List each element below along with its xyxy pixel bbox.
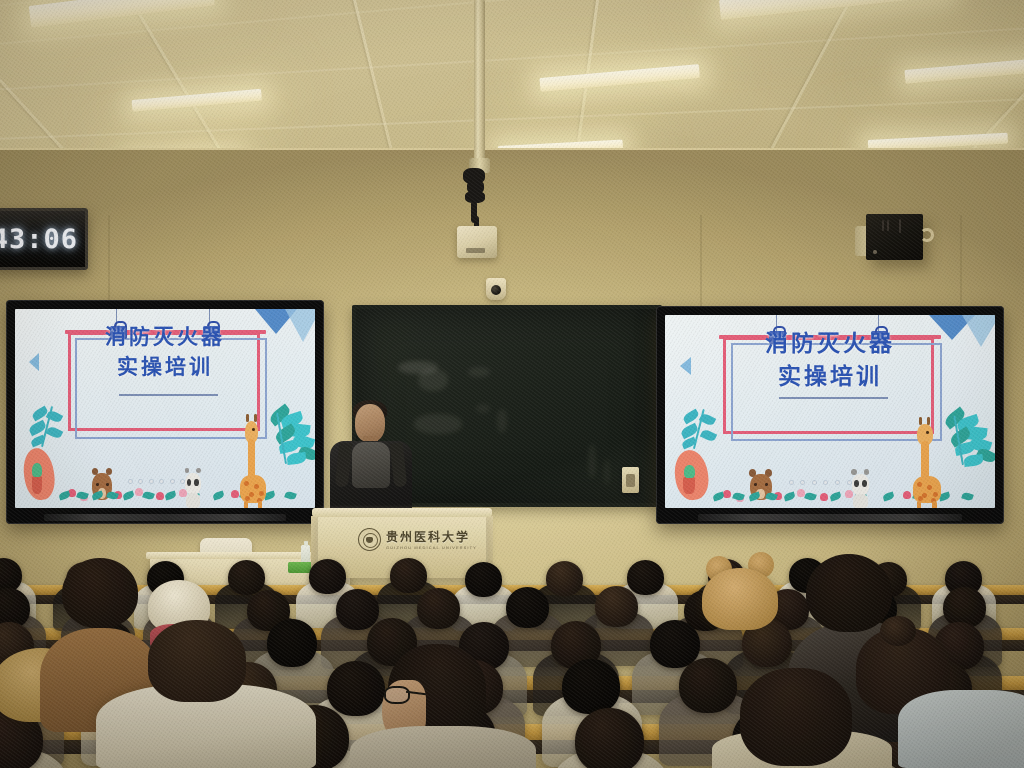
wall-light-switch[interactable]	[622, 467, 639, 493]
left-display-stand	[44, 514, 286, 521]
slide-raccoon-ear-l	[185, 468, 190, 473]
audience-head	[465, 562, 502, 597]
ceiling-light-1	[719, 0, 950, 20]
slide-grass-0	[712, 491, 725, 501]
audience-head	[506, 587, 549, 628]
slide-giraffe-spot-1	[254, 484, 259, 489]
wall-speaker	[866, 214, 923, 260]
clock-time-display: 7:43:06	[0, 224, 78, 255]
slide-title-right-line2: 实操培训	[665, 362, 995, 394]
ceiling-dome-camera	[486, 278, 506, 300]
slide-dot-0	[128, 479, 133, 484]
emblem-inner-mark	[366, 537, 373, 543]
slide-giraffe-leg-r	[932, 501, 937, 508]
slide-leaf-right-7	[963, 454, 983, 467]
slide-pot	[683, 477, 695, 494]
slide-grass-6	[164, 491, 177, 501]
slide-grass-6	[829, 491, 842, 501]
university-name-cn: 贵州医科大学	[386, 528, 470, 545]
audience-head-bottom-right	[740, 668, 852, 766]
audience-hair-bun	[880, 616, 916, 646]
slide-dot-2	[812, 480, 817, 485]
left-display[interactable]: 消防灭火器 实操培训	[6, 300, 324, 524]
slide-grass-1	[732, 491, 745, 501]
audience-head	[309, 559, 346, 594]
slide-dot-0	[789, 480, 794, 485]
slide-title-underline	[119, 394, 218, 396]
slide-leaf-left-3	[699, 428, 716, 443]
audience-head	[228, 560, 265, 595]
slide-giraffe-horn-r	[254, 414, 257, 422]
slide-raccoon-mask-r	[194, 479, 199, 486]
slide-title-left-line2: 实操培训	[15, 353, 315, 382]
slide-flower-6	[903, 491, 911, 499]
slide-pot	[32, 476, 43, 494]
audience-head-dark-left	[62, 558, 138, 628]
audience-head	[336, 589, 379, 630]
audience-head	[679, 658, 737, 713]
slide-title-left-line1: 消防灭火器	[15, 323, 315, 352]
slide-raccoon-ear-r	[864, 469, 869, 474]
audience-long-hair-center	[148, 620, 246, 702]
slide-flower-0	[723, 490, 731, 498]
slide-dot-5	[847, 480, 852, 485]
slide-giraffe-leg-r	[258, 501, 262, 508]
wall-seam-left	[108, 215, 110, 311]
slide-raccoon-body	[853, 494, 868, 508]
slide-leaf-left-0	[682, 408, 700, 424]
audience-head	[417, 588, 460, 629]
slide-dot-1	[138, 479, 143, 484]
audience-head	[562, 659, 620, 714]
audience-head	[546, 561, 583, 596]
slide-leaf-left-3	[46, 426, 63, 441]
slide-raccoon-body	[186, 493, 200, 508]
slide-giraffe-body	[240, 475, 266, 503]
audience-head-right-top	[806, 554, 892, 632]
slide-dot-3	[159, 479, 164, 484]
slide-leaf-left-1	[698, 412, 715, 427]
glasses-icon[interactable]	[384, 686, 410, 704]
slide-bear-eye-r	[106, 483, 109, 486]
right-display-stand	[698, 514, 962, 521]
slide-canvas-left: 消防灭火器 实操培训	[15, 309, 315, 508]
slide-dot-2	[149, 479, 154, 484]
lecture-hall-photo: 7:43:06 消防灭火器 实操培训 消防灭火器 实操培训	[0, 0, 1024, 768]
ceiling-light-3	[539, 64, 700, 92]
slide-grass-11	[961, 491, 974, 501]
slide-flower-4	[156, 492, 164, 500]
projector-cable-bundle	[455, 168, 499, 230]
wall-seam-right	[700, 215, 702, 315]
slide-dot-3	[823, 480, 828, 485]
slide-giraffe-neck	[921, 441, 930, 480]
slide-giraffe-body	[913, 476, 941, 503]
digital-wall-clock: 7:43:06	[0, 208, 88, 270]
slide-bear-eye-l	[96, 483, 99, 486]
speaker-mount-arm	[920, 228, 934, 242]
projector-mount-pole	[474, 0, 485, 175]
slide-dot-4	[835, 480, 840, 485]
right-display[interactable]: 消防灭火器 实操培训	[656, 306, 1004, 524]
slide-giraffe-leg-l	[917, 501, 922, 508]
slide-canvas-right: 消防灭火器 实操培训	[665, 315, 995, 508]
slide-flower-5	[845, 490, 853, 498]
slide-grass-11	[284, 491, 297, 501]
slide-giraffe-spot-0	[244, 481, 249, 486]
slide-leaf-right-7	[286, 452, 306, 465]
slide-giraffe-spot-0	[917, 482, 922, 487]
slide-leaf-left-0	[30, 405, 48, 421]
presenter-hoodie	[352, 442, 390, 488]
slide-raccoon-mask-l	[854, 480, 859, 487]
slide-pot-plant	[32, 463, 42, 477]
audience-grey-hoodie	[350, 726, 536, 768]
slide-grass-4	[122, 491, 135, 501]
audience-head	[575, 708, 644, 768]
lectern-top-edge	[312, 508, 492, 517]
slide-pot-plant	[684, 465, 695, 479]
slide-giraffe-leg-l	[244, 501, 248, 508]
audience-head	[595, 586, 638, 627]
ceiling-cross-line-2	[0, 23, 1024, 94]
audience-blue-quilted	[898, 690, 1024, 768]
audience-head	[390, 558, 427, 593]
audience-head	[627, 560, 664, 595]
slide-dot-4	[170, 479, 175, 484]
slide-title-underline	[779, 397, 888, 399]
slide-grass-8	[882, 491, 895, 501]
slide-grass-0	[58, 491, 71, 501]
slide-giraffe-spot-3	[933, 492, 938, 497]
slide-dot-1	[800, 480, 805, 485]
audience-bear-hood	[702, 568, 778, 630]
slide-grass-8	[212, 491, 225, 501]
slide-giraffe-eye	[926, 431, 929, 434]
slide-raccoon-ear-r	[196, 468, 201, 473]
audience-head	[327, 661, 385, 716]
slide-grass-5	[142, 491, 155, 501]
university-emblem	[358, 528, 381, 551]
projector-control-box	[457, 226, 497, 258]
slide-giraffe-spot-3	[259, 491, 264, 496]
slide-grass-4	[783, 491, 796, 501]
slide-grass-5	[804, 491, 817, 501]
slide-flower-6	[231, 490, 239, 498]
university-name-en: GUIZHOU MEDICAL UNIVERSITY	[386, 545, 477, 550]
slide-flower-4	[820, 493, 828, 501]
slide-raccoon-mask-r	[862, 480, 867, 487]
slide-title-right-line1: 消防灭火器	[665, 329, 995, 361]
ceiling-light-4	[904, 57, 1024, 84]
ceiling-light-0	[29, 0, 215, 28]
slide-giraffe-neck	[248, 439, 256, 479]
slide-giraffe-horn-r	[927, 417, 930, 425]
audience-head	[267, 619, 317, 667]
